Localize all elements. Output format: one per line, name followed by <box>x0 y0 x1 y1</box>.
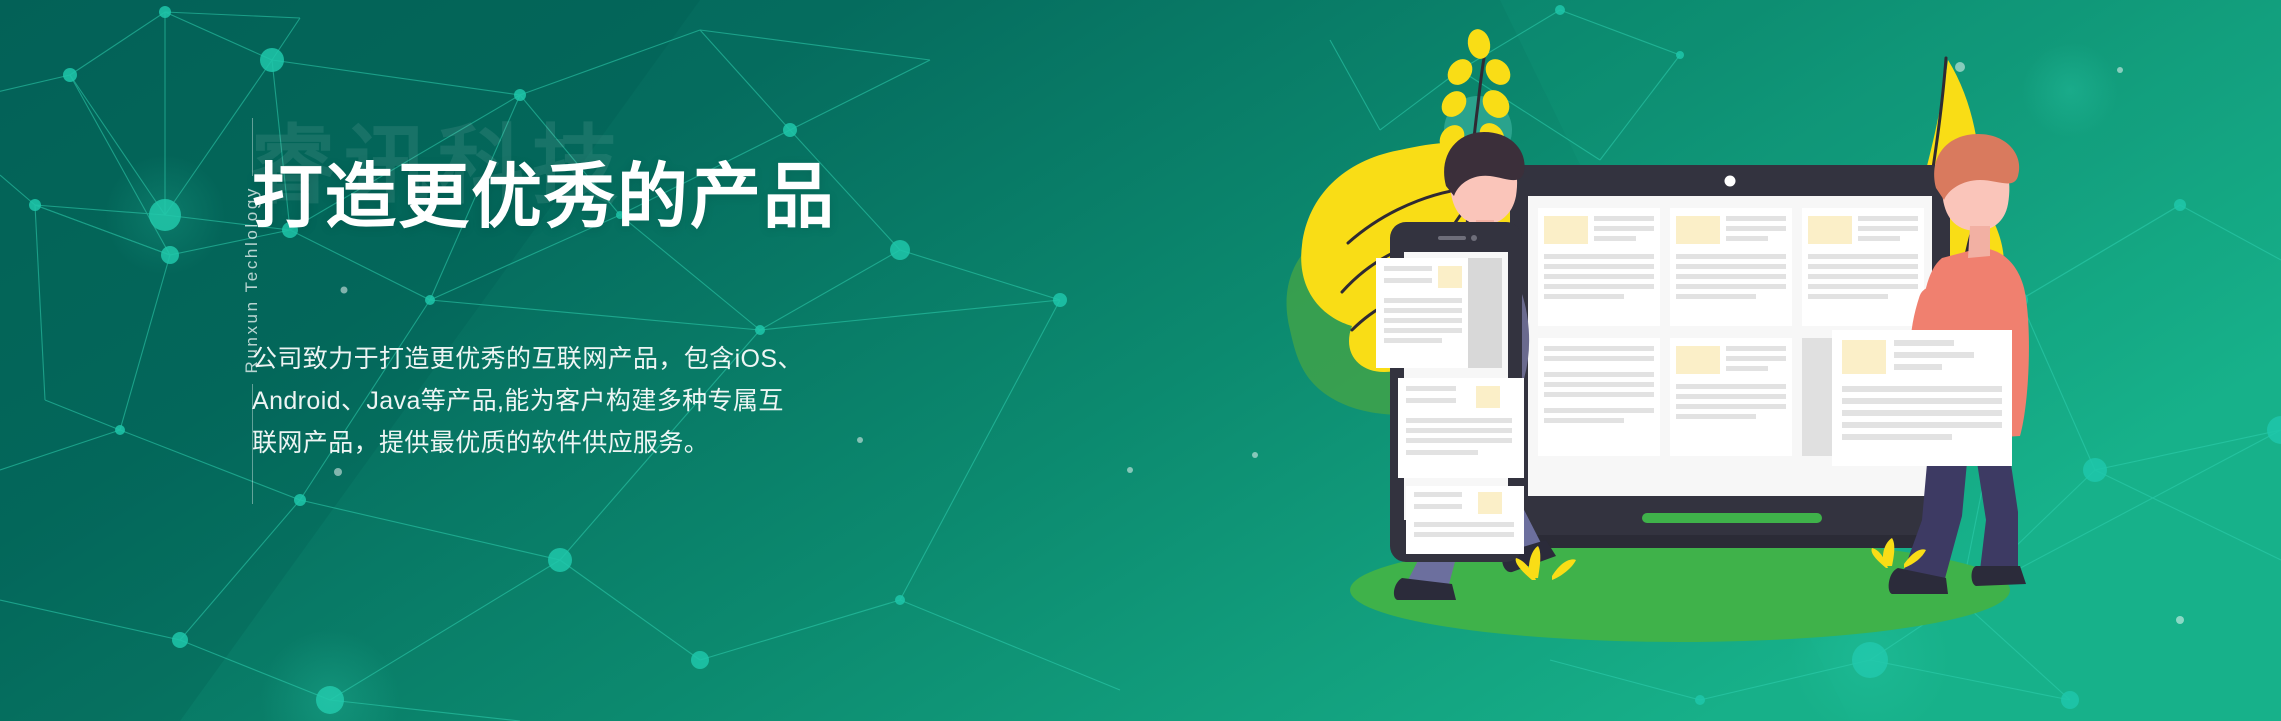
hero-banner: 睿讯科技 Runxun Techlology 打造更优秀的产品 公司致力于打造更… <box>0 0 2281 721</box>
hero-description-line-3: 联网产品，提供最优质的软件供应服务。 <box>252 422 812 464</box>
hero-illustration <box>1280 0 2040 721</box>
hero-description-line-1: 公司致力于打造更优秀的互联网产品，包含iOS、 <box>252 338 812 380</box>
hero-description: 公司致力于打造更优秀的互联网产品，包含iOS、 Android、Java等产品,… <box>252 338 812 464</box>
hero-description-line-2: Android、Java等产品,能为客户构建多种专属互 <box>252 380 812 422</box>
right-document <box>1832 330 2012 466</box>
page-title: 打造更优秀的产品 <box>252 140 836 242</box>
